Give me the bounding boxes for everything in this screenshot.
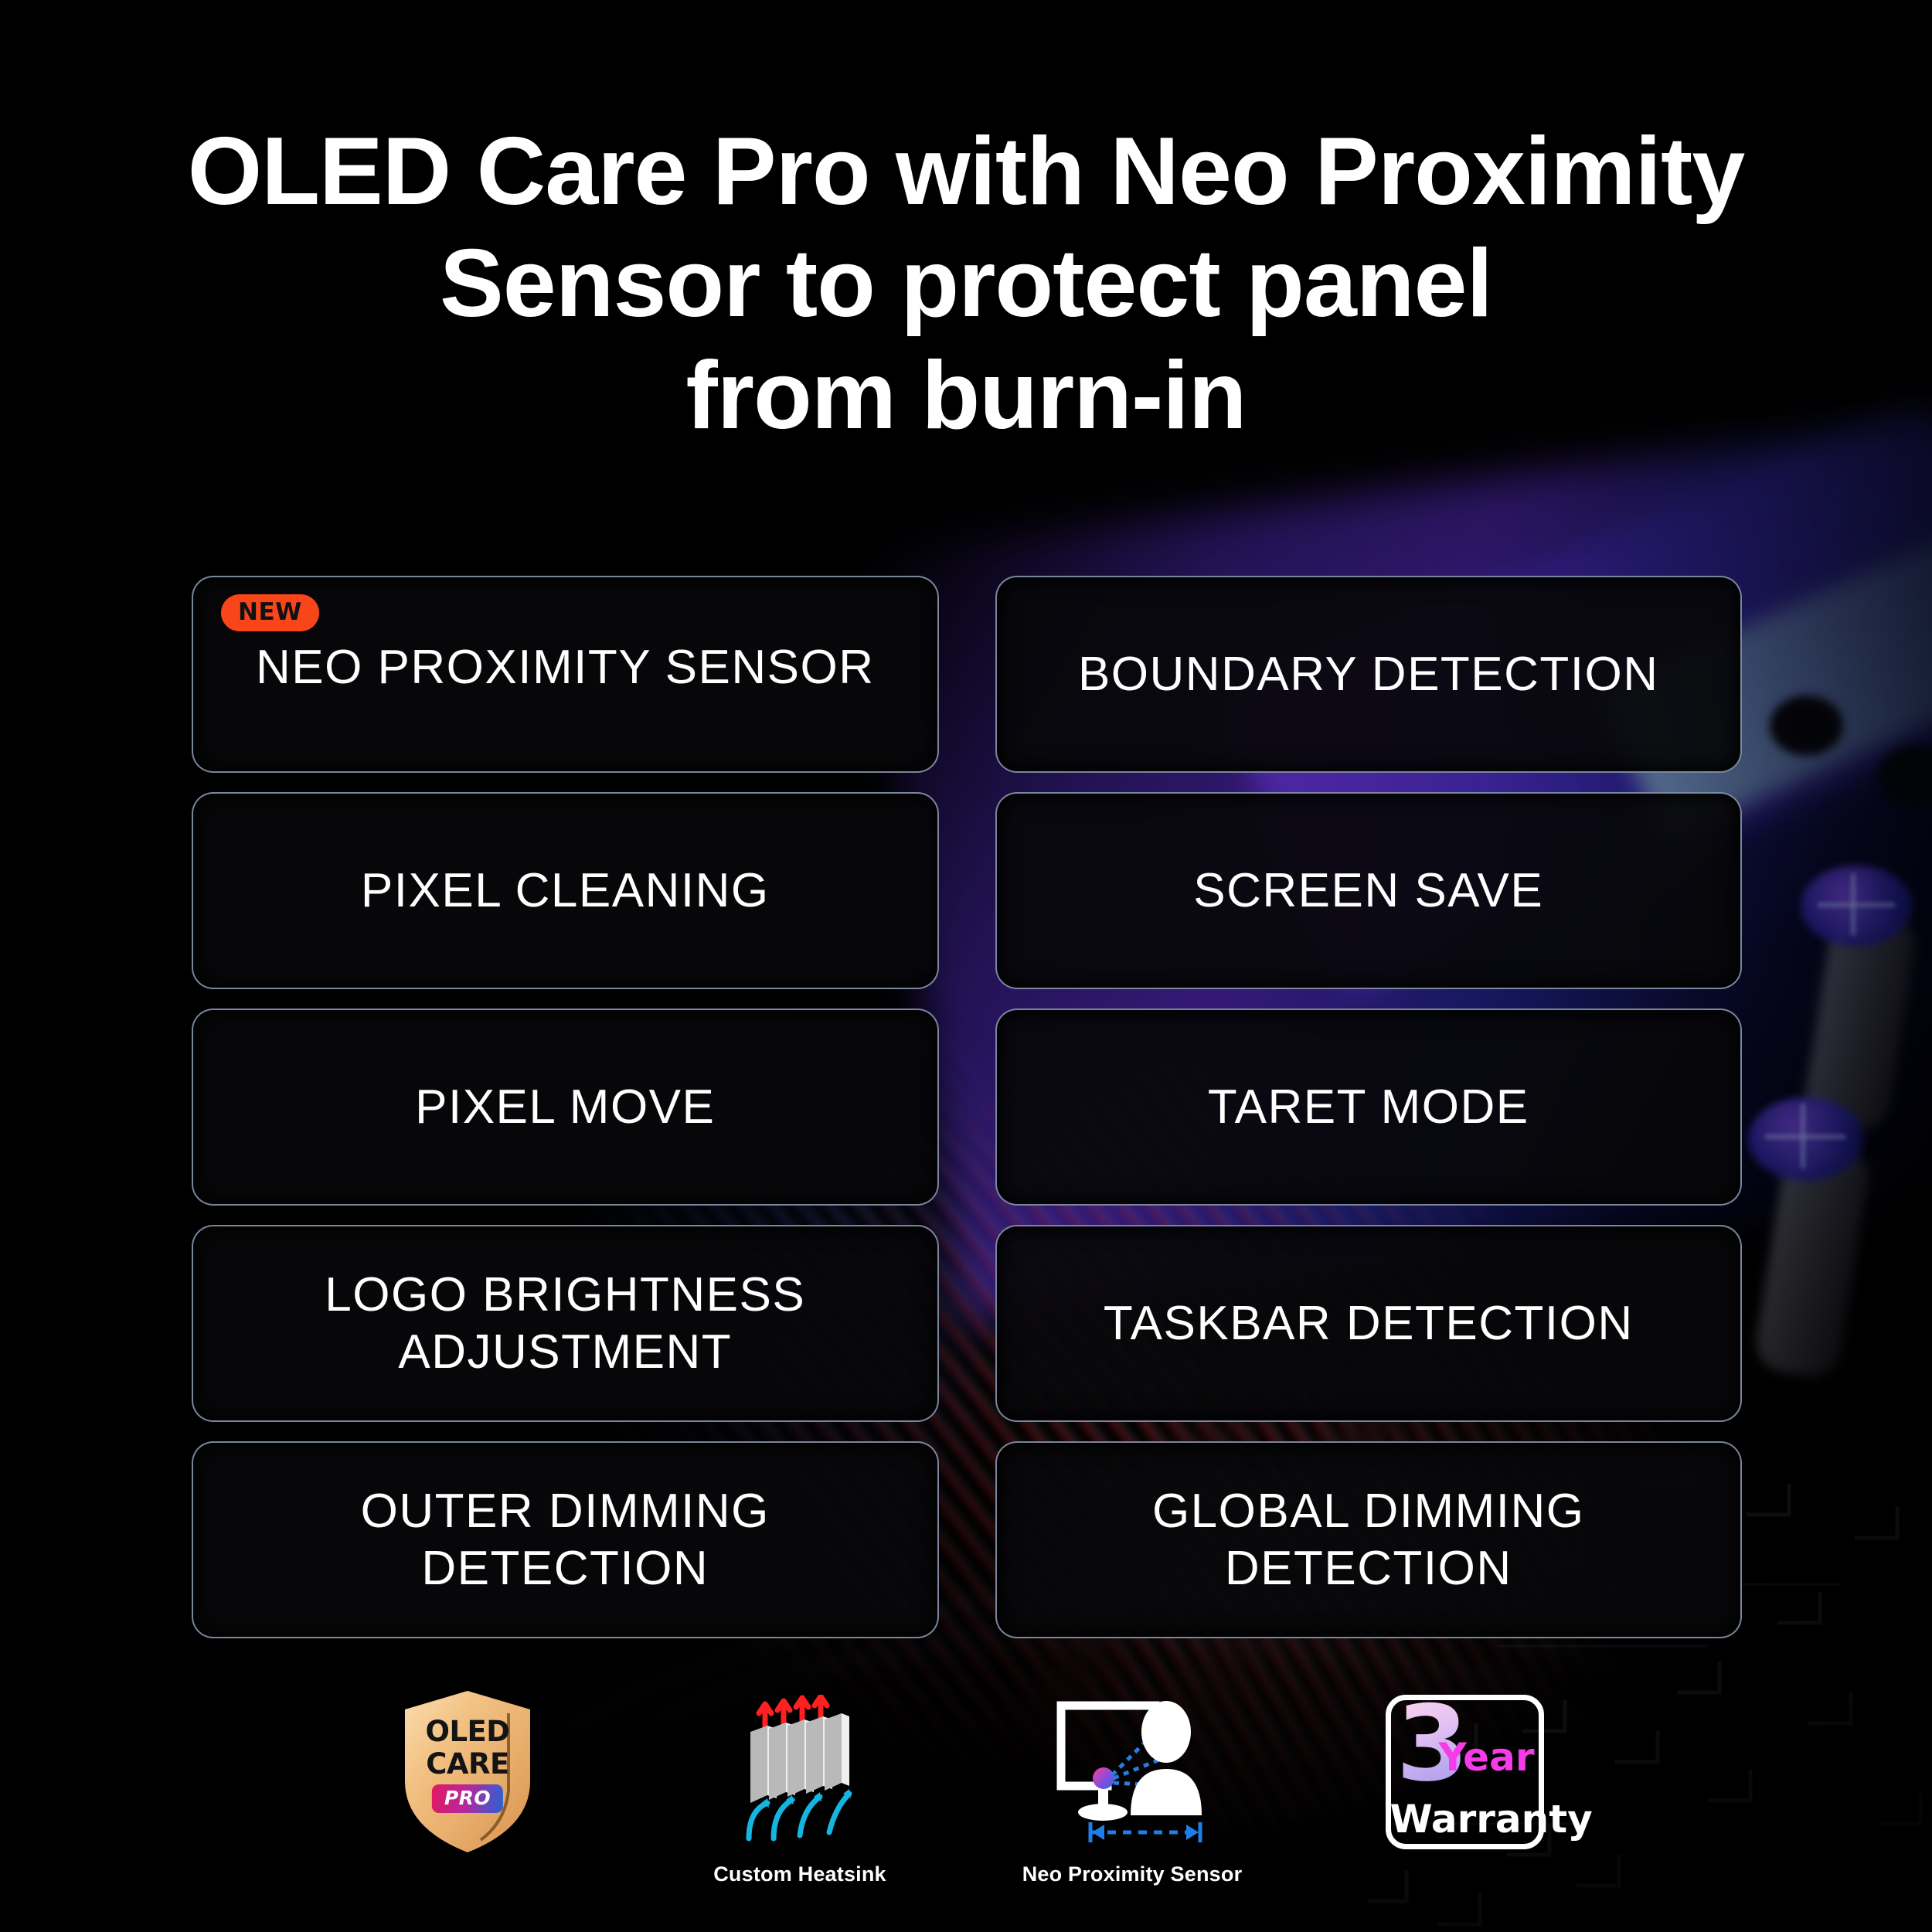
feature-card-label: BOUNDARY DETECTION xyxy=(1078,646,1659,702)
three-year-warranty-icon: 3 Year Warranty xyxy=(1386,1695,1544,1849)
feature-card-label: PIXEL CLEANING xyxy=(361,862,770,919)
background-board-hole xyxy=(1770,696,1843,756)
badge-artwork: OLED CARE PRO xyxy=(400,1689,536,1855)
feature-card-label: LOGO BRIGHTNESS ADJUSTMENT xyxy=(325,1267,805,1379)
background-stand-cylinder xyxy=(1752,1138,1872,1381)
badge-artwork xyxy=(723,1689,877,1855)
feature-card-pixel-cleaning[interactable]: PIXEL CLEANING xyxy=(192,792,939,989)
feature-card-boundary-detection[interactable]: BOUNDARY DETECTION xyxy=(995,576,1743,773)
feature-card-outer-dimming-detection[interactable]: OUTER DIMMING DETECTION xyxy=(192,1441,939,1638)
badge-neo-proximity-sensor: Neo Proximity Sensor xyxy=(1028,1689,1236,1886)
feature-card-logo-brightness-adjustment[interactable]: LOGO BRIGHTNESS ADJUSTMENT xyxy=(192,1225,939,1422)
feature-card-label: SCREEN SAVE xyxy=(1193,862,1543,919)
promo-poster: OLED Care Pro with Neo Proximity Sensor … xyxy=(0,0,1932,1932)
feature-card-label: NEO PROXIMITY SENSOR xyxy=(215,639,916,696)
badge-three-year-warranty: 3 Year Warranty xyxy=(1360,1689,1569,1862)
background-stand-cross xyxy=(1818,903,1895,907)
badge-caption: Custom Heatsink xyxy=(713,1862,886,1886)
warranty-unit: Year xyxy=(1439,1738,1535,1777)
new-badge: NEW xyxy=(221,594,319,631)
feature-card-label: TARET MODE xyxy=(1208,1079,1529,1135)
badge-custom-heatsink: Custom Heatsink xyxy=(696,1689,904,1886)
custom-heatsink-icon xyxy=(723,1695,877,1849)
page-title: OLED Care Pro with Neo Proximity Sensor … xyxy=(0,116,1932,452)
feature-card-taret-mode[interactable]: TARET MODE xyxy=(995,1009,1743,1206)
badge-caption: Neo Proximity Sensor xyxy=(1022,1862,1243,1886)
feature-card-label: GLOBAL DIMMING DETECTION xyxy=(1152,1483,1585,1596)
feature-card-taskbar-detection[interactable]: TASKBAR DETECTION xyxy=(995,1225,1743,1422)
warranty-word: Warranty xyxy=(1390,1800,1539,1838)
shield-line-care: CARE xyxy=(400,1747,536,1781)
feature-grid: NEW NEO PROXIMITY SENSOR BOUNDARY DETECT… xyxy=(192,576,1742,1638)
background-stand-cross xyxy=(1801,1104,1805,1168)
feature-card-global-dimming-detection[interactable]: GLOBAL DIMMING DETECTION xyxy=(995,1441,1743,1638)
background-stand-cylinder xyxy=(1801,906,1919,1134)
background-stand-cross xyxy=(1851,873,1855,935)
feature-card-pixel-move[interactable]: PIXEL MOVE xyxy=(192,1009,939,1206)
feature-card-label: PIXEL MOVE xyxy=(415,1079,715,1135)
badge-oled-care-pro: OLED CARE PRO xyxy=(363,1689,572,1862)
feature-card-neo-proximity-sensor[interactable]: NEW NEO PROXIMITY SENSOR xyxy=(192,576,939,773)
badge-artwork: 3 Year Warranty xyxy=(1386,1689,1544,1855)
footer-badge-row: OLED CARE PRO xyxy=(0,1689,1932,1886)
feature-card-label: TASKBAR DETECTION xyxy=(1104,1295,1634,1352)
feature-card-label: OUTER DIMMING DETECTION xyxy=(361,1483,770,1596)
background-stand-cross xyxy=(1765,1134,1845,1139)
shield-line-oled: OLED xyxy=(400,1715,536,1748)
background-board-hole xyxy=(1878,746,1932,806)
shield-pro-pill: PRO xyxy=(432,1784,503,1813)
background-stand-cap xyxy=(1748,1097,1864,1181)
badge-artwork xyxy=(1047,1689,1217,1855)
neo-proximity-sensor-icon xyxy=(1047,1695,1217,1849)
feature-card-screen-save[interactable]: SCREEN SAVE xyxy=(995,792,1743,989)
background-stand-cap xyxy=(1801,866,1913,947)
